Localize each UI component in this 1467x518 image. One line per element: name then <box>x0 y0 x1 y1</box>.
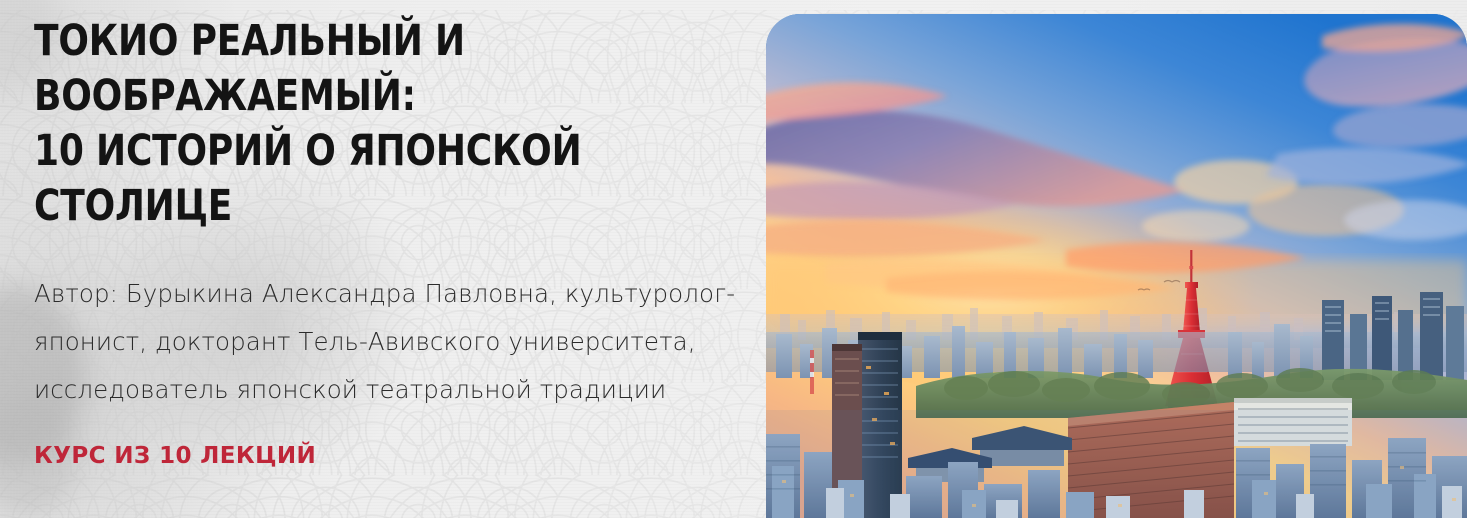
course-author-description: Автор: Бурыкина Александра Павловна, кул… <box>34 234 736 414</box>
tokyo-skyline-photo <box>766 14 1467 518</box>
course-banner: ТОКИО РЕАЛЬНЫЙ И ВООБРАЖАЕМЫЙ: 10 ИСТОРИ… <box>0 0 1467 518</box>
course-lecture-count-badge: КУРС ИЗ 10 ЛЕКЦИЙ <box>34 414 736 469</box>
course-title: ТОКИО РЕАЛЬНЫЙ И ВООБРАЖАЕМЫЙ: 10 ИСТОРИ… <box>34 14 687 234</box>
banner-text-column: ТОКИО РЕАЛЬНЫЙ И ВООБРАЖАЕМЫЙ: 10 ИСТОРИ… <box>0 0 766 518</box>
